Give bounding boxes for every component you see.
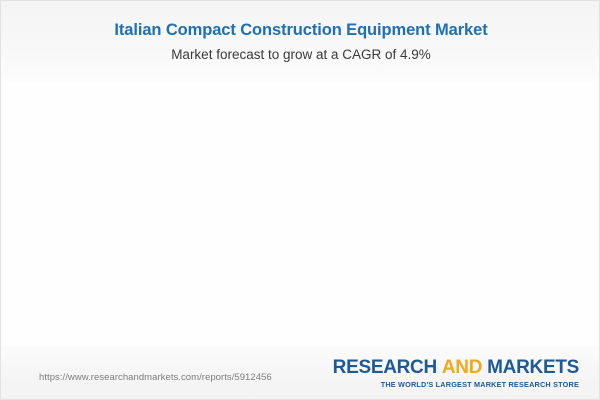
chart-footer: https://www.researchandmarkets.com/repor… [1,346,600,400]
report-url[interactable]: https://www.researchandmarkets.com/repor… [39,372,272,383]
logo-word-research: RESEARCH [333,357,437,378]
logo-word-markets: MARKETS [487,357,579,378]
chart-plot-area: 59,619 Units 2022 83,302 Units [1,81,600,346]
chart-header: Italian Compact Construction Equipment M… [1,1,600,81]
logo-tagline: THE WORLD'S LARGEST MARKET RESEARCH STOR… [333,381,579,388]
page-title: Italian Compact Construction Equipment M… [1,1,600,39]
logo-wordmark: RESEARCHANDMARKETS [333,358,579,377]
chart-card: Italian Compact Construction Equipment M… [0,0,600,400]
research-and-markets-logo[interactable]: RESEARCHANDMARKETS THE WORLD'S LARGEST M… [333,358,579,388]
chart-subtitle: Market forecast to grow at a CAGR of 4.9… [1,39,600,63]
logo-word-and: AND [442,357,482,378]
